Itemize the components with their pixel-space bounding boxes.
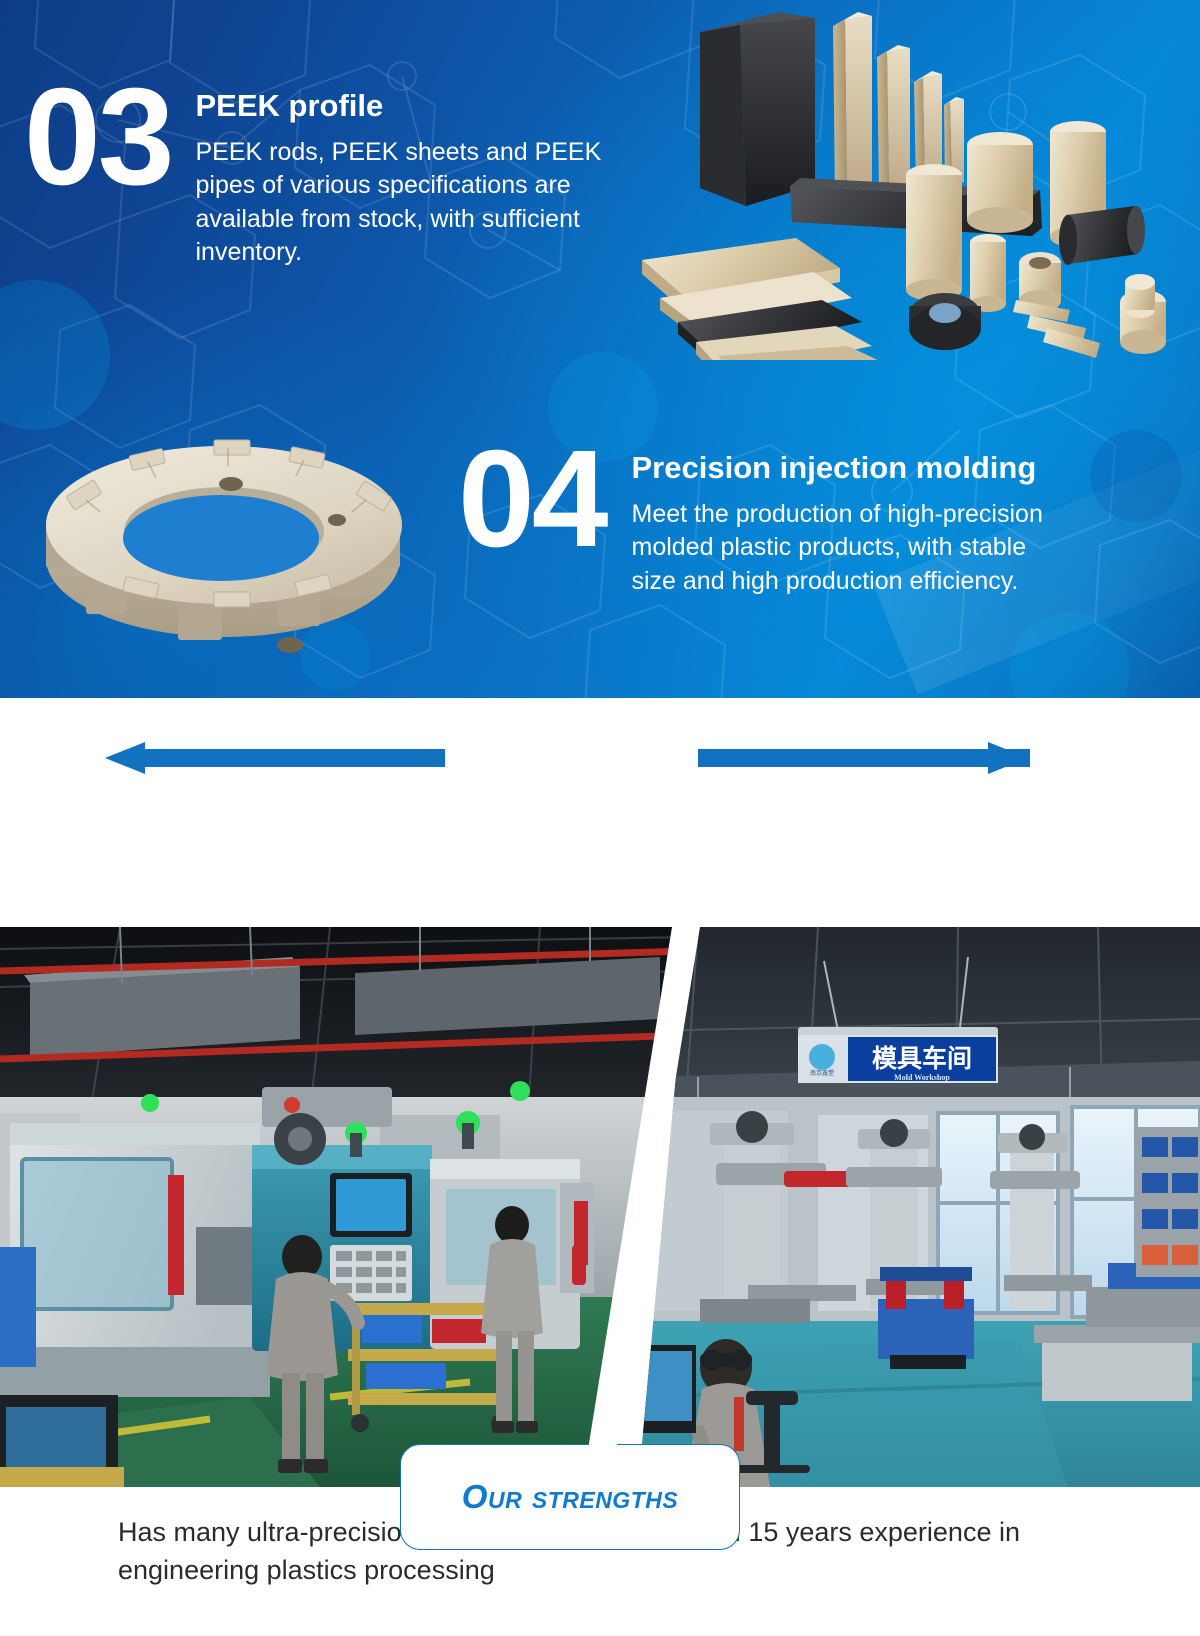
feature-description-03: PEEK rods, PEEK sheets and PEEK pipes of… [196,136,626,269]
cnc-workshop-photo [0,927,690,1487]
feature-title-03: PEEK profile [196,88,626,124]
double-arrow-divider [0,698,1200,927]
our-strengths-badge: Our strengths [400,1444,740,1550]
svg-text:模具车间: 模具车间 [872,1044,972,1073]
feature-title-04: Precision injection molding [632,450,1062,486]
feature-card-04: 04 Precision injection molding Meet the … [458,436,1062,598]
our-strengths-label: Our strengths [462,1478,678,1516]
svg-text:Mold Workshop: Mold Workshop [894,1073,950,1082]
peek-products-image [600,10,1200,360]
workshop-gallery: 模具车间 Mold Workshop 南京鑫塑 [0,927,1200,1487]
feature-number-03: 03 [24,74,172,201]
our-strengths-banner: Our strengths [0,698,1200,927]
features-panel: 03 PEEK profile PEEK rods, PEEK sheets a… [0,0,1200,698]
feature-card-03: 03 PEEK profile PEEK rods, PEEK sheets a… [24,74,626,269]
svg-text:南京鑫塑: 南京鑫塑 [810,1069,834,1077]
peek-gear-ring-image [28,392,418,662]
feature-number-04: 04 [458,436,606,563]
mold-workshop-photo: 模具车间 Mold Workshop 南京鑫塑 [638,927,1200,1487]
feature-description-04: Meet the production of high-precision mo… [632,498,1062,598]
